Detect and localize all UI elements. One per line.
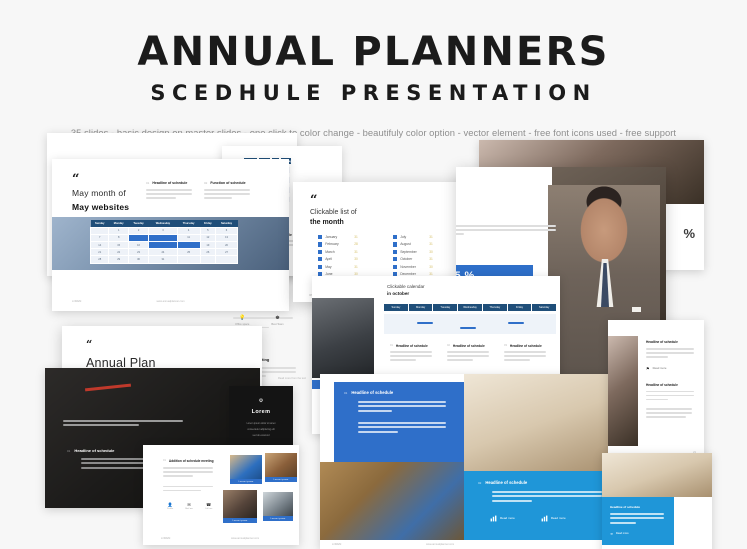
page-subtitle: SCEDHULE PRESENTATION: [0, 72, 747, 104]
event-bar[interactable]: [508, 322, 524, 324]
text-line: [63, 424, 139, 426]
checkbox-icon[interactable]: [393, 250, 397, 254]
phone-icon: ☎: [205, 502, 212, 507]
slide-title-line2: May websites: [72, 202, 129, 212]
photo-interior: [608, 336, 638, 446]
thumb-caption[interactable]: Lorem ipsum: [265, 477, 297, 482]
cell-highlighted[interactable]: 9: [128, 234, 148, 241]
dark-heading: Headline of schedule: [74, 448, 114, 453]
user-icon: 👤: [167, 502, 173, 507]
list-item[interactable]: July 31: [393, 235, 455, 239]
text-line: [63, 420, 183, 422]
slide-team-gallery[interactable]: 01 Addition of schedule meeting 👤 Profil…: [143, 445, 299, 545]
checkbox-icon[interactable]: [393, 257, 397, 261]
th-wednesday: Wednesday: [457, 304, 482, 311]
cell[interactable]: 22: [109, 249, 128, 256]
text-line: [358, 431, 398, 433]
text-line: [610, 513, 664, 515]
month-value: 30: [429, 265, 433, 269]
cell[interactable]: [216, 256, 238, 263]
table-row[interactable]: 28 29 30 31: [91, 256, 238, 263]
cell[interactable]: 1: [109, 227, 128, 234]
cell[interactable]: 16: [128, 241, 148, 248]
header: ANNUAL PLANNERS SCEDHULE PRESENTATION 35…: [0, 0, 747, 138]
cell[interactable]: 2: [128, 227, 148, 234]
icon-call[interactable]: ☎ Call me: [205, 502, 212, 510]
th-tuesday: Tuesday: [432, 304, 457, 311]
gallery-heading: Addition of schedule meeting: [169, 459, 214, 463]
mini-card[interactable]: 01 Headline of schedule: [390, 344, 438, 363]
text-line: [358, 401, 446, 403]
text-line: [204, 193, 250, 195]
thumb-caption[interactable]: Lorem ipsum: [263, 516, 293, 521]
cell[interactable]: 4: [177, 227, 200, 234]
cell[interactable]: 28: [91, 256, 109, 263]
icon-row[interactable]: 💡 Office space ♚ Best Team: [235, 316, 307, 326]
month-name: January: [325, 235, 351, 239]
text-line: [447, 359, 473, 361]
col1-heading: Headline of schedule: [152, 181, 187, 185]
text-line: [146, 189, 192, 191]
month-list-left[interactable]: January 31 February 28 March 31 April 30: [318, 235, 376, 279]
side-note: Read more from the text: [278, 377, 306, 380]
cell[interactable]: [91, 227, 109, 234]
month-value: 31: [354, 250, 358, 254]
text-line: [492, 500, 532, 502]
october-title-line2: in october: [387, 291, 425, 296]
th-thursday: Thursday: [177, 220, 200, 227]
gear-icon: ⚙: [229, 398, 293, 404]
table-row[interactable]: 7 8 9 10 11 12 13: [91, 234, 238, 241]
quote-icon: “: [72, 175, 129, 184]
cell[interactable]: 24: [149, 249, 177, 256]
slide-schedule-feature[interactable]: 01 Headline of schedule: [320, 374, 618, 549]
checkbox-icon[interactable]: [393, 235, 397, 239]
flag-icon: ⚑: [646, 366, 650, 371]
preview-canvas: ANNUAL PLANNERS SCEDHULE PRESENTATION 35…: [0, 0, 747, 549]
month-value: 31: [429, 257, 433, 261]
photo-child-4: [263, 492, 293, 516]
card-heading: Headline of schedule: [510, 344, 542, 348]
cell[interactable]: 12: [200, 234, 215, 241]
cell[interactable]: 29: [109, 256, 128, 263]
slide-title-line1: May month of: [72, 188, 129, 198]
list-item[interactable]: November 30: [393, 265, 455, 269]
rc-block1-link[interactable]: ⚑ Read more: [646, 366, 698, 371]
month-name: May: [325, 265, 351, 269]
th-saturday: Saturday: [531, 304, 556, 311]
text-line: [146, 193, 192, 195]
footer-left: LOREM: [332, 543, 341, 546]
link-label: Read more: [653, 366, 667, 370]
cell[interactable]: 30: [128, 256, 148, 263]
month-value: 30: [429, 250, 433, 254]
text-line: [456, 225, 556, 227]
link-label: Read more: [551, 516, 566, 520]
text-line: [390, 359, 416, 361]
kicker: 02: [447, 344, 450, 348]
text-line: [456, 233, 464, 235]
cell[interactable]: 11: [177, 234, 200, 241]
cell-highlighted[interactable]: 18: [177, 241, 200, 248]
cell[interactable]: 3: [149, 227, 177, 234]
gallery-thumb-3[interactable]: Lorem ipsum: [223, 490, 257, 524]
text-line: [646, 356, 668, 358]
text-line: [646, 391, 694, 393]
cell[interactable]: 26: [200, 249, 215, 256]
lorem-title: Lorem: [229, 409, 293, 415]
lorem-sub3: sed do eiusmod: [229, 434, 293, 437]
table-header-row: Sunday Monday Tuesday Wednesday Thursday…: [91, 220, 238, 227]
checkbox-icon[interactable]: [393, 242, 397, 246]
footer-left: LOREM: [161, 537, 170, 540]
icon-profile[interactable]: 👤 Profile: [167, 502, 173, 510]
footer-center: www.annualplanner.com: [426, 543, 454, 546]
text-line: [504, 359, 530, 361]
chart-icon: [541, 515, 548, 522]
list-item[interactable]: September 30: [393, 250, 455, 254]
slide-lorem-card[interactable]: ⚙ Lorem Lorem ipsum dolor sit amet conse…: [229, 386, 293, 452]
kicker: 02: [478, 481, 481, 485]
text-line: [204, 197, 232, 199]
text-line: [204, 189, 250, 191]
checkbox-icon[interactable]: [318, 250, 322, 254]
kicker: 03: [504, 344, 507, 348]
pocket-square: [632, 307, 641, 312]
cell[interactable]: 19: [200, 241, 215, 248]
text-line: [390, 355, 432, 357]
cell[interactable]: 15: [109, 241, 128, 248]
thumb-caption[interactable]: Lorem ipsum: [230, 479, 262, 484]
slide-may-websites[interactable]: “ May month of May websites 01 Headline …: [52, 159, 289, 311]
october-title-line1: Clickable calendar: [387, 284, 425, 289]
th-saturday: Saturday: [216, 220, 238, 227]
th-friday: Friday: [507, 304, 532, 311]
link-label: Read more: [616, 532, 629, 535]
list-title-line2: the month: [310, 219, 357, 226]
th-tuesday: Tuesday: [128, 220, 148, 227]
text-line: [163, 486, 213, 488]
list-item[interactable]: February 28: [318, 242, 376, 246]
list-title-line1: Clickable list of: [310, 209, 357, 216]
photo-table-setting: [464, 374, 618, 471]
text-line: [447, 355, 489, 357]
october-grid[interactable]: [384, 314, 556, 334]
crown-icon: ♚: [271, 316, 283, 321]
lorem-sub1: Lorem ipsum dolor sit amet: [229, 422, 293, 425]
gallery-thumb-2[interactable]: Lorem ipsum: [265, 453, 297, 483]
photo-child-3: [223, 490, 257, 518]
photo-dinner: [602, 453, 712, 497]
rc-block1-heading: Headline of schedule: [646, 340, 698, 344]
text-line: [504, 355, 546, 357]
list-item[interactable]: October 31: [393, 257, 455, 261]
arrow-icon: ➔: [610, 532, 613, 536]
footer-right: www.annualplanner.com: [231, 537, 259, 540]
text-line: [390, 351, 432, 353]
list-item[interactable]: August 31: [393, 242, 455, 246]
cell[interactable]: 27: [216, 249, 238, 256]
bullet-line: [646, 408, 692, 410]
table-row[interactable]: 21 22 23 24 25 26 27: [91, 249, 238, 256]
cell[interactable]: 13: [216, 234, 238, 241]
icon-label: Office space: [235, 323, 249, 326]
month-value: 30: [354, 257, 358, 261]
thumb-caption[interactable]: Lorem ipsum: [223, 518, 257, 523]
text-line: [610, 517, 664, 519]
slide-collage: % Wednesday Thursday Friday Saturday 16: [0, 130, 747, 549]
text-line: [492, 491, 602, 493]
rb-link[interactable]: ➔ Read more: [610, 532, 668, 536]
text-line: [610, 522, 636, 524]
icon-label: Best Team: [271, 323, 283, 326]
cell-highlighted[interactable]: 17: [149, 241, 177, 248]
list-item[interactable]: May 31: [318, 265, 376, 269]
month-value: 31: [354, 235, 358, 239]
kicker: 01: [390, 344, 393, 348]
kicker: 01: [344, 391, 347, 395]
text-line: [358, 426, 446, 428]
month-name: September: [400, 250, 426, 254]
text-line: [358, 422, 446, 424]
gallery-thumb-4[interactable]: Lorem ipsum: [263, 492, 293, 522]
mini-card[interactable]: 03 Headline of schedule: [504, 344, 552, 363]
week-calendar[interactable]: Sunday Monday Tuesday Wednesday Thursday…: [90, 220, 238, 264]
table-row[interactable]: 14 15 16 17 18 19 20: [91, 241, 238, 248]
event-bar[interactable]: [460, 327, 476, 329]
cell[interactable]: 14: [91, 241, 109, 248]
cell[interactable]: 7: [91, 234, 109, 241]
link-label: Read more: [500, 516, 515, 520]
list-item[interactable]: March 31: [318, 250, 376, 254]
cell[interactable]: [200, 256, 215, 263]
th-monday: Monday: [109, 220, 128, 227]
lightbulb-icon: 💡: [235, 316, 249, 321]
icon-item-team[interactable]: ♚ Best Team: [271, 316, 283, 326]
kicker: 01: [163, 459, 166, 463]
month-list-right[interactable]: July 31 August 31 September 30 October 3…: [393, 235, 455, 279]
bullet-line: [646, 416, 686, 418]
text-line: [163, 490, 201, 492]
percent-suffix: %: [683, 226, 695, 241]
icon-label: Mail me: [185, 508, 193, 510]
checkbox-icon[interactable]: [318, 242, 322, 246]
month-value: 31: [429, 242, 433, 246]
cell[interactable]: 8: [109, 234, 128, 241]
chart-icon: [490, 515, 497, 522]
photo-child-1: [230, 455, 262, 479]
cell[interactable]: 21: [91, 249, 109, 256]
page-title: ANNUAL PLANNERS: [0, 0, 747, 72]
text-line: [646, 399, 668, 401]
month-name: March: [325, 250, 351, 254]
checkbox-icon[interactable]: [393, 265, 397, 269]
kicker: 02: [204, 181, 207, 185]
rb-heading: Headline of schedule: [610, 505, 668, 509]
photo-traveler: [320, 462, 464, 540]
text-line: [492, 495, 602, 497]
col2-heading: Function of schedule: [210, 181, 245, 185]
month-name: April: [325, 257, 351, 261]
cell[interactable]: 20: [216, 241, 238, 248]
text-line: [646, 352, 694, 354]
kicker: 01: [146, 181, 149, 185]
table-row[interactable]: 1 2 3 4 5 6: [91, 227, 238, 234]
icon-label: Profile: [167, 508, 173, 510]
text-line: [358, 405, 446, 407]
list-item[interactable]: April 30: [318, 257, 376, 261]
kicker: 01: [67, 449, 70, 453]
month-name: August: [400, 242, 426, 246]
text-line: [447, 351, 489, 353]
feature-heading: Headline of schedule: [351, 390, 393, 395]
photo-hoodie: [312, 298, 374, 378]
text-line: [163, 475, 193, 477]
lorem-sub2: consectetur adipiscing elit: [229, 428, 293, 431]
month-name: November: [400, 265, 426, 269]
icon-item-office[interactable]: 💡 Office space: [235, 316, 249, 326]
bullet-line: [646, 412, 692, 414]
month-value: 31: [429, 235, 433, 239]
contact-icons[interactable]: 👤 Profile ✉ Mail me ☎ Call me: [167, 502, 219, 510]
text-line: [646, 348, 694, 350]
checkbox-icon[interactable]: [318, 265, 322, 269]
month-name: February: [325, 242, 351, 246]
month-value: 31: [354, 265, 358, 269]
text-line: [163, 467, 213, 469]
october-day-header: Sunday Monday Tuesday Wednesday Thursday…: [384, 304, 556, 311]
quote-icon: “: [86, 341, 196, 349]
cell[interactable]: [177, 256, 200, 263]
icon-label: Call me: [205, 508, 212, 510]
text-line: [163, 471, 213, 473]
slide-right-bottom[interactable]: Headline of schedule ➔ Read more: [602, 453, 712, 549]
cell[interactable]: 23: [128, 249, 148, 256]
text-line: [456, 229, 556, 231]
cell[interactable]: 25: [177, 249, 200, 256]
event-bar[interactable]: [417, 322, 433, 324]
th-wednesday: Wednesday: [149, 220, 177, 227]
card-heading: Headline of schedule: [396, 344, 428, 348]
read-more-link-2[interactable]: Read more: [541, 515, 566, 522]
text-line: [358, 410, 392, 412]
th-sunday: Sunday: [91, 220, 109, 227]
card-heading: Headline of schedule: [453, 344, 485, 348]
rc-block2-heading: Headline of schedule: [646, 383, 698, 387]
th-thursday: Thursday: [482, 304, 507, 311]
card-heading: Headline of schedule: [485, 480, 527, 485]
icon-mail[interactable]: ✉ Mail me: [185, 502, 193, 510]
gallery-thumb-1[interactable]: Lorem ipsum: [230, 455, 262, 485]
th-sunday: Sunday: [384, 304, 408, 311]
footer-center: www.annualplanner.com: [156, 300, 184, 303]
text-line: [146, 197, 176, 199]
footer-left: LOREM: [72, 300, 81, 303]
read-more-link-1[interactable]: Read more: [490, 515, 515, 522]
checkbox-icon[interactable]: [318, 235, 322, 239]
list-item[interactable]: January 31: [318, 235, 376, 239]
month-name: July: [400, 235, 426, 239]
checkbox-icon[interactable]: [318, 257, 322, 261]
cell[interactable]: 31: [149, 256, 177, 263]
text-line: [504, 351, 546, 353]
mini-card[interactable]: 02 Headline of schedule: [447, 344, 495, 363]
cell-highlighted[interactable]: 10: [149, 234, 177, 241]
month-name: October: [400, 257, 426, 261]
photo-child-2: [265, 453, 297, 477]
cell[interactable]: 6: [216, 227, 238, 234]
cell[interactable]: 5: [200, 227, 215, 234]
month-value: 28: [354, 242, 358, 246]
mail-icon: ✉: [185, 502, 193, 507]
text-line: [646, 395, 694, 397]
slide-right-column[interactable]: Headline of schedule ⚑ Read more Headlin…: [608, 320, 704, 460]
th-monday: Monday: [408, 304, 433, 311]
th-friday: Friday: [200, 220, 215, 227]
quote-icon: “: [310, 196, 357, 205]
